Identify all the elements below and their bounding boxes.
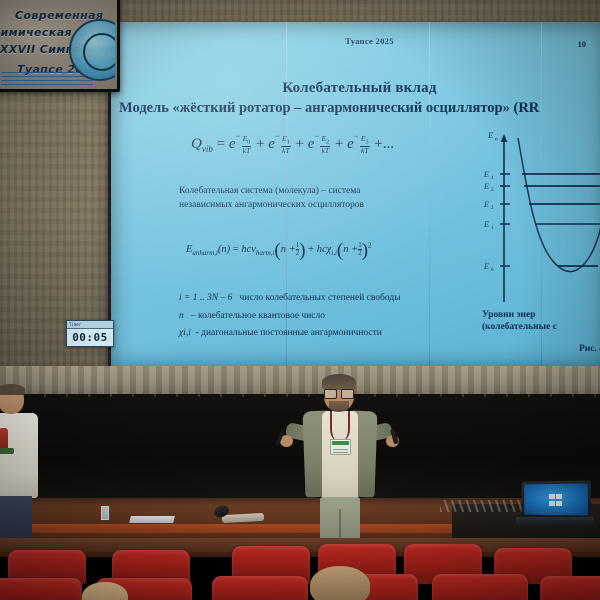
legend-item: χi,i - диагональные постоянные ангармони… bbox=[179, 325, 499, 343]
energy-axis-label: E bbox=[487, 130, 494, 140]
formula-e-plus: + bbox=[308, 244, 314, 255]
svg-text:n: n bbox=[495, 137, 498, 143]
presenter-badge bbox=[330, 439, 351, 455]
formula-e-t2-pre: hc bbox=[317, 244, 327, 255]
windows-logo-icon bbox=[549, 494, 562, 506]
slide-page-number: 10 bbox=[578, 39, 587, 49]
energy-diagram-svg: E n E 4 E 3 E 2 E 1 bbox=[482, 130, 600, 310]
diagram-caption: Уровни энер (колебательные с bbox=[482, 310, 600, 334]
diagram-caption-line-1: Уровни энер bbox=[482, 310, 600, 322]
formula-e-lhs-sub: anharm,i bbox=[192, 249, 217, 257]
laptop-screen bbox=[524, 483, 588, 515]
presenter-lanyard bbox=[330, 411, 350, 441]
conference-photo: Современная химическая физика XXXVII Сим… bbox=[0, 0, 600, 600]
formula-e-arg: (n) bbox=[218, 244, 230, 255]
formula-q-lhs-sub: vib bbox=[202, 144, 213, 154]
legend-item: n – колебательное квантовое число bbox=[179, 308, 499, 326]
slide-title: Колебательный вклад bbox=[111, 80, 600, 97]
formula-e-t1-pre: hc bbox=[241, 244, 251, 255]
legend-item: i = 1 .. 3N – 6 число колебательных степ… bbox=[179, 290, 499, 308]
formula-e-eq: = bbox=[233, 244, 239, 255]
svg-text:2: 2 bbox=[491, 206, 494, 211]
presenter-beard bbox=[329, 401, 349, 412]
svg-text:E: E bbox=[483, 200, 489, 209]
timer-value: 00:05 bbox=[67, 329, 113, 347]
formula-q-tail: +... bbox=[374, 136, 394, 152]
seat bbox=[212, 576, 308, 600]
formula-q-lhs: Q bbox=[191, 136, 202, 152]
conference-poster: Современная химическая физика XXXVII Сим… bbox=[0, 0, 120, 92]
svg-text:4: 4 bbox=[491, 176, 494, 181]
laptop-keyboard bbox=[516, 517, 594, 526]
presenter-hair bbox=[322, 374, 356, 390]
energy-level-diagram: E n E 4 E 3 E 2 E 1 bbox=[482, 130, 600, 310]
formula-q-eq: = bbox=[217, 136, 225, 152]
formula-e-t2-power: 2 bbox=[368, 242, 372, 250]
presenter-trousers bbox=[320, 497, 360, 543]
legend-symbol: n bbox=[179, 311, 184, 321]
slide-header: Туапсе 2025 bbox=[111, 36, 600, 46]
seat bbox=[0, 578, 82, 600]
glasses-icon bbox=[324, 389, 354, 397]
description-line-2: независимых ангармонических осцилляторов bbox=[179, 198, 479, 212]
legend-text: – колебательное квантовое число bbox=[191, 311, 325, 321]
diagram-caption-line-2: (колебательные с bbox=[482, 322, 600, 334]
legend-text: - диагональные постоянные ангармоничност… bbox=[196, 328, 382, 338]
attendee-left bbox=[0, 386, 42, 546]
seat bbox=[540, 576, 600, 600]
timer-titlebar: Timer bbox=[67, 321, 113, 329]
water-glass bbox=[101, 506, 109, 520]
slide-description: Колебательная система (молекула) – систе… bbox=[179, 184, 479, 213]
diagram-figure-label: Рис. 4 bbox=[579, 344, 600, 354]
papers-on-stage bbox=[129, 516, 175, 523]
svg-text:3: 3 bbox=[491, 188, 494, 193]
slide-legend: i = 1 .. 3N – 6 число колебательных степ… bbox=[179, 290, 499, 343]
svg-text:E: E bbox=[483, 170, 489, 179]
formula-e-t1-n: n + bbox=[281, 244, 296, 255]
svg-text:E: E bbox=[483, 262, 489, 271]
laptop-lid bbox=[521, 480, 591, 518]
formula-e-t1-sub: harm,i bbox=[256, 249, 274, 257]
svg-text:E: E bbox=[483, 182, 489, 191]
legend-text: число колебательных степеней свободы bbox=[240, 293, 401, 303]
attendee-hair bbox=[0, 384, 25, 395]
partition-function-formula: Qvib = e−E0kT + e−E1kT + e−E2kT + e−E3kT… bbox=[191, 134, 394, 155]
presenter-laptop[interactable] bbox=[516, 481, 594, 529]
svg-text:1: 1 bbox=[491, 226, 494, 231]
presentation-timer[interactable]: Timer 00:05 bbox=[66, 320, 114, 347]
seat bbox=[432, 574, 528, 600]
legend-symbol: χi,i bbox=[179, 328, 191, 338]
audience-head bbox=[310, 566, 370, 600]
slide-subtitle: Модель «жёсткий ротатор – ангармонически… bbox=[119, 100, 600, 117]
tshirt-graphic bbox=[0, 428, 16, 460]
presenter-standing bbox=[292, 377, 388, 537]
description-line-1: Колебательная система (молекула) – систе… bbox=[179, 184, 479, 198]
svg-text:0: 0 bbox=[491, 268, 494, 273]
svg-text:E: E bbox=[483, 220, 489, 229]
projection-screen: Туапсе 2025 10 Колебательный вклад Модел… bbox=[108, 22, 600, 367]
legend-symbol: i = 1 .. 3N – 6 bbox=[179, 293, 232, 303]
slide-venue-label: Туапсе 2025 bbox=[345, 36, 394, 46]
formula-e-t2-n: n + bbox=[343, 244, 358, 255]
anharmonic-energy-formula: Eanharm,i(n) = hcνharm,i(n +12) + hcχi,i… bbox=[186, 240, 372, 262]
